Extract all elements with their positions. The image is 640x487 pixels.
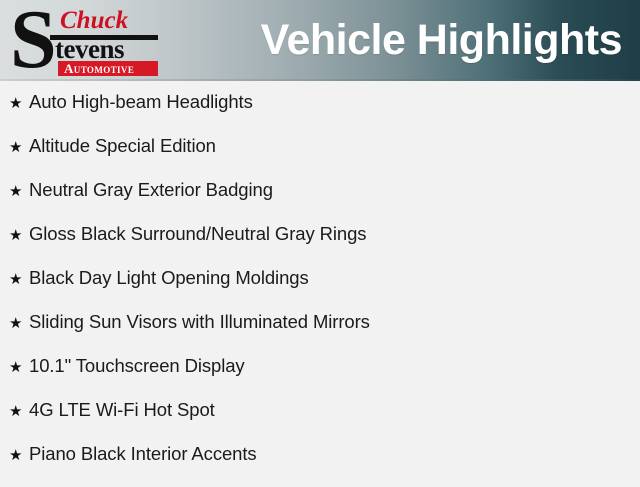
list-item-label: Piano Black Interior Accents (29, 443, 257, 465)
list-item: ★ 10.1" Touchscreen Display (0, 355, 640, 399)
star-bullet-icon: ★ (9, 138, 29, 157)
dealer-logo: S Chuck tevens Automotive (8, 4, 168, 78)
list-item-label: Neutral Gray Exterior Badging (29, 179, 273, 201)
list-item-label: Auto High-beam Headlights (29, 91, 253, 113)
list-item-label: 10.1" Touchscreen Display (29, 355, 245, 377)
logo-initial-letter: S (10, 0, 55, 81)
page-title: Vehicle Highlights (261, 14, 622, 66)
list-item: ★ Black Day Light Opening Moldings (0, 267, 640, 311)
star-bullet-icon: ★ (9, 402, 29, 421)
list-item: ★ Sliding Sun Visors with Illuminated Mi… (0, 311, 640, 355)
list-item: ★ Auto High-beam Headlights (0, 91, 640, 135)
list-item: ★ Piano Black Interior Accents (0, 443, 640, 487)
list-item: ★ 4G LTE Wi-Fi Hot Spot (0, 399, 640, 443)
slide-header: S Chuck tevens Automotive Vehicle Highli… (0, 0, 640, 81)
logo-last-name: tevens (55, 36, 124, 63)
logo-tagline-text: Automotive (64, 62, 134, 75)
list-item-label: Altitude Special Edition (29, 135, 216, 157)
list-item-label: Black Day Light Opening Moldings (29, 267, 309, 289)
star-bullet-icon: ★ (9, 182, 29, 201)
vehicle-highlights-list: ★ Auto High-beam Headlights ★ Altitude S… (0, 81, 640, 480)
star-bullet-icon: ★ (9, 226, 29, 245)
star-bullet-icon: ★ (9, 314, 29, 333)
list-item: ★ Gloss Black Surround/Neutral Gray Ring… (0, 223, 640, 267)
star-bullet-icon: ★ (9, 94, 29, 113)
vehicle-highlights-slide: S Chuck tevens Automotive Vehicle Highli… (0, 0, 640, 480)
list-item: ★ Altitude Special Edition (0, 135, 640, 179)
logo-first-name: Chuck (60, 8, 128, 33)
list-item: ★ Neutral Gray Exterior Badging (0, 179, 640, 223)
list-item-label: Sliding Sun Visors with Illuminated Mirr… (29, 311, 370, 333)
list-item-label: 4G LTE Wi-Fi Hot Spot (29, 399, 215, 421)
star-bullet-icon: ★ (9, 358, 29, 377)
star-bullet-icon: ★ (9, 270, 29, 289)
list-item-label: Gloss Black Surround/Neutral Gray Rings (29, 223, 366, 245)
star-bullet-icon: ★ (9, 446, 29, 465)
